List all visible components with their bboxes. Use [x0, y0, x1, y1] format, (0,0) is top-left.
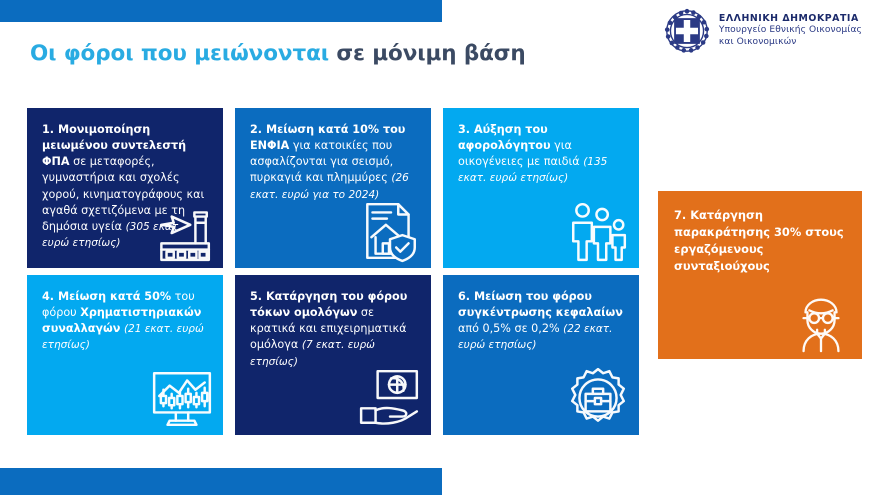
- insured-house-document-icon: [357, 198, 423, 264]
- measure-card-7-bold-lead: Κατάργηση παρακράτησης 30% στους εργαζόμ…: [674, 208, 844, 273]
- measure-card-4-bold-lead: Μείωση κατά 50%: [54, 290, 171, 303]
- hellenic-republic-coat-of-arms-icon: [664, 8, 710, 54]
- measure-card-6-number: 6.: [458, 290, 470, 303]
- measure-card-6-text: 6. Μείωση του φόρου συγκέντρωσης κεφαλαί…: [458, 289, 625, 354]
- logo-line-1: ΕΛΛΗΝΙΚΗ ΔΗΜΟΚΡΑΤΙΑ: [719, 13, 862, 25]
- measure-card-7-number: 7.: [674, 208, 686, 222]
- measure-card-2[interactable]: 2. Μείωση κατά 10% του ΕΝΦΙΑ για κατοικί…: [235, 108, 431, 268]
- measure-card-1[interactable]: 1. Μονιμοποίηση μειωμένου συντελεστή ΦΠΑ…: [27, 108, 223, 268]
- measure-card-4[interactable]: 4. Μείωση κατά 50% του φόρου Χρηματιστηρ…: [27, 275, 223, 435]
- measure-card-7-text: 7. Κατάργηση παρακράτησης 30% στους εργα…: [674, 207, 848, 275]
- measure-card-6[interactable]: 6. Μείωση του φόρου συγκέντρωσης κεφαλαί…: [443, 275, 639, 435]
- measure-card-2-number: 2.: [250, 123, 262, 136]
- measure-card-2-text: 2. Μείωση κατά 10% του ΕΝΦΙΑ για κατοικί…: [250, 122, 417, 203]
- measure-card-5-text: 5. Κατάργηση του φόρου τόκων ομολόγων σε…: [250, 289, 417, 370]
- measure-card-3-bold-lead: Αύξηση του αφορολόγητου: [458, 123, 551, 152]
- measure-card-7[interactable]: 7. Κατάργηση παρακράτησης 30% στους εργα…: [658, 191, 862, 359]
- measure-card-4-number: 4.: [42, 290, 54, 303]
- measure-card-1-text: 1. Μονιμοποίηση μειωμένου συντελεστή ΦΠΑ…: [42, 122, 209, 251]
- top-accent-bar: [0, 0, 442, 22]
- gear-briefcase-icon: [565, 365, 631, 431]
- measure-card-3[interactable]: 3. Αύξηση του αφορολόγητου για οικογένει…: [443, 108, 639, 268]
- page-title-main: σε μόνιμη βάση: [329, 41, 526, 66]
- working-pensioner-icon: [790, 291, 852, 353]
- logo-line-3: και Οικονομικών: [719, 37, 862, 49]
- measure-card-4-text: 4. Μείωση κατά 50% του φόρου Χρηματιστηρ…: [42, 289, 209, 354]
- measure-card-6-bold-lead: Μείωση του φόρου συγκέντρωσης κεφαλαίων: [458, 290, 623, 319]
- ministry-logo: ΕΛΛΗΝΙΚΗ ΔΗΜΟΚΡΑΤΙΑ Υπουργείο Εθνικής Οι…: [664, 8, 862, 54]
- page-title-accent: Οι φόροι που μειώνονται: [30, 41, 329, 66]
- measure-card-6-body: από 0,5% σε 0,2%: [458, 322, 560, 335]
- stock-chart-monitor-icon: [149, 365, 215, 431]
- bottom-accent-bar: [0, 468, 442, 495]
- hand-holding-bond-certificate-icon: [357, 365, 423, 431]
- measure-card-5-bold-lead: Κατάργηση του φόρου τόκων ομολόγων: [250, 290, 407, 319]
- measure-card-5-number: 5.: [250, 290, 262, 303]
- logo-line-2: Υπουργείο Εθνικής Οικονομίας: [719, 25, 862, 37]
- page-title: Οι φόροι που μειώνονται σε μόνιμη βάση: [30, 41, 526, 66]
- measure-card-1-number: 1.: [42, 123, 54, 136]
- measure-card-3-number: 3.: [458, 123, 470, 136]
- family-with-children-icon: [565, 198, 631, 264]
- measure-card-3-text: 3. Αύξηση του αφορολόγητου για οικογένει…: [458, 122, 625, 187]
- measure-card-5[interactable]: 5. Κατάργηση του φόρου τόκων ομολόγων σε…: [235, 275, 431, 435]
